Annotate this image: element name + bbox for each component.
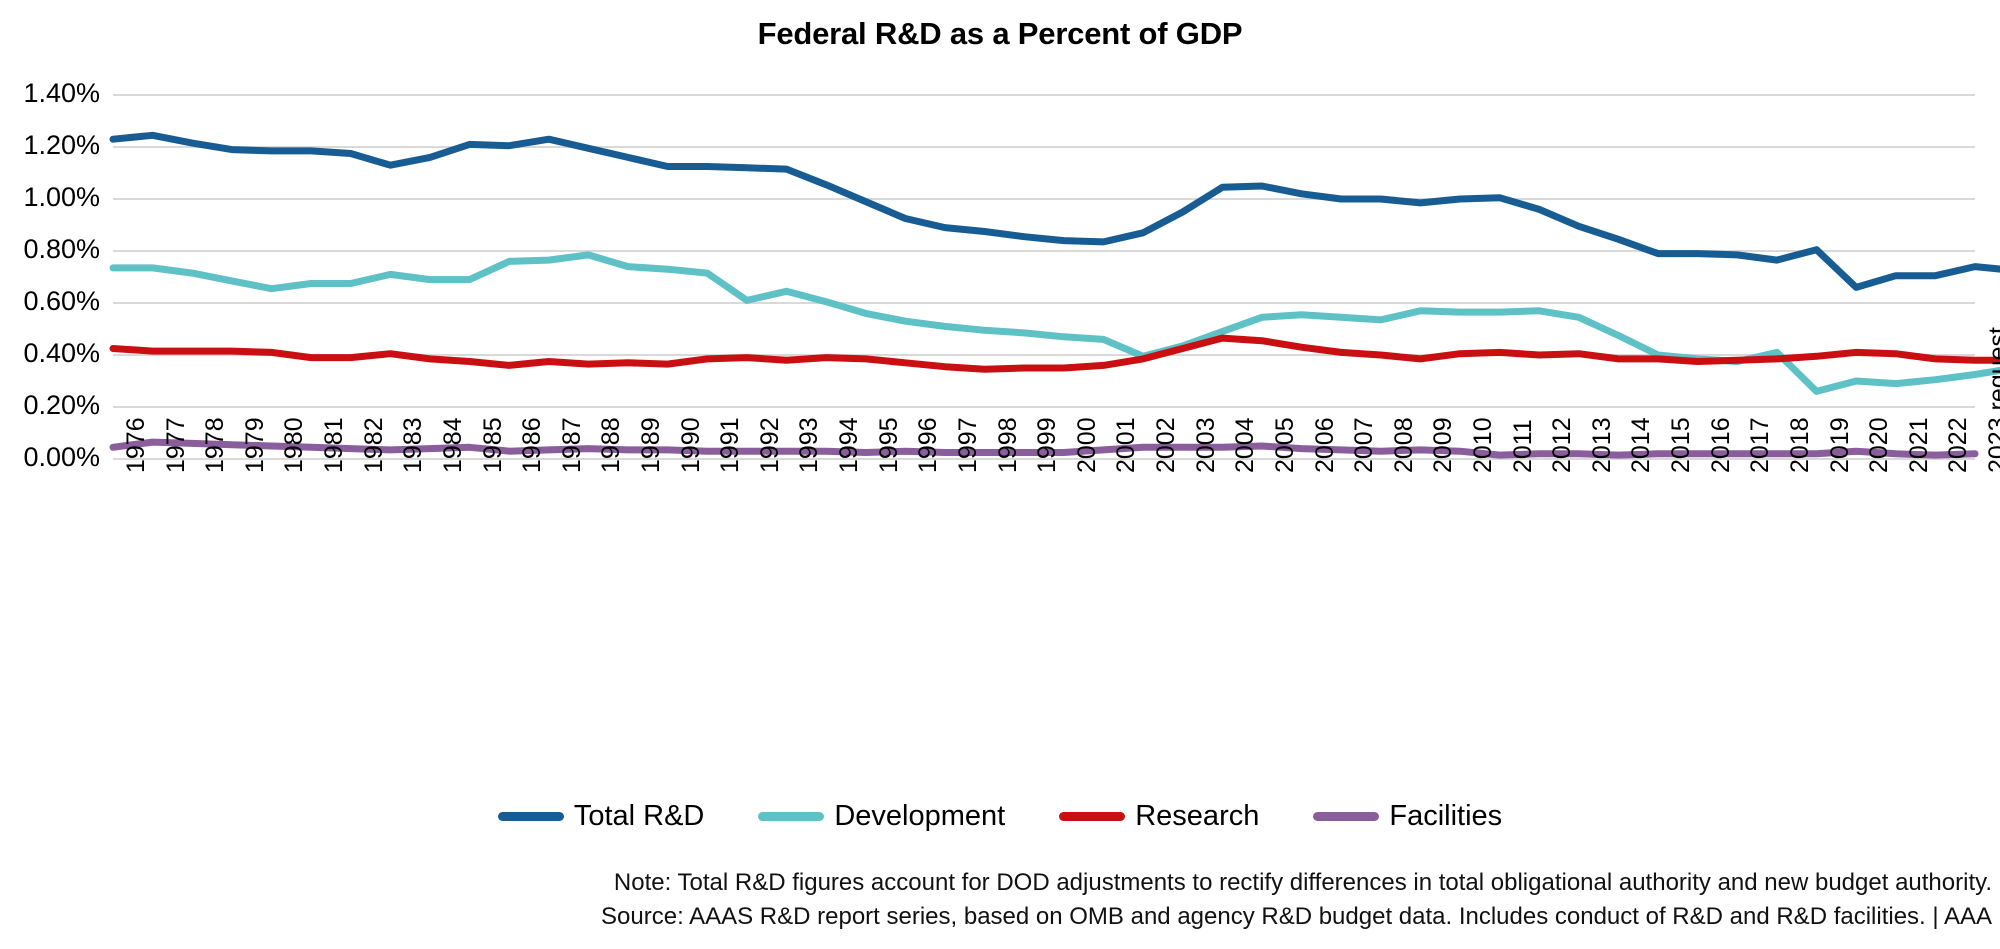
y-tick-label: 0.00%	[0, 442, 100, 473]
x-tick-label: 2006	[1311, 417, 1340, 473]
y-tick-label: 1.00%	[0, 182, 100, 213]
legend-swatch-icon	[758, 812, 824, 821]
series-line-total-r-d	[113, 135, 2000, 287]
legend-item-facilities[interactable]: Facilities	[1313, 800, 1502, 833]
x-tick-label: 2011	[1509, 419, 1538, 473]
x-tick-label: 2009	[1429, 417, 1458, 473]
legend-label: Total R&D	[574, 800, 705, 833]
x-tick-label: 1997	[954, 417, 983, 473]
x-tick-label: 1977	[162, 417, 191, 473]
chart-container: Federal R&D as a Percent of GDP 0.00%0.2…	[0, 0, 2000, 949]
legend-swatch-icon	[498, 812, 564, 821]
x-tick-label: 2012	[1548, 417, 1577, 473]
x-tick-label: 1998	[994, 417, 1023, 473]
x-tick-label: 1976	[122, 417, 151, 473]
x-tick-label: 1990	[677, 417, 706, 473]
x-tick-label: 1989	[637, 417, 666, 473]
footnote-note: Note: Total R&D figures account for DOD …	[0, 866, 1992, 900]
x-tick-label: 1994	[835, 417, 864, 473]
legend-label: Facilities	[1389, 800, 1502, 833]
legend-label: Development	[834, 800, 1005, 833]
x-tick-label: 1988	[597, 417, 626, 473]
x-tick-label: 2005	[1271, 417, 1300, 473]
legend-item-development[interactable]: Development	[758, 800, 1005, 833]
x-tick-label: 1992	[756, 417, 785, 473]
x-tick-label: 2019	[1826, 417, 1855, 473]
x-tick-label: 1993	[795, 417, 824, 473]
legend-swatch-icon	[1313, 812, 1379, 821]
x-tick-label: 2022	[1944, 417, 1973, 473]
x-tick-label: 2008	[1390, 417, 1419, 473]
x-tick-label: 1995	[875, 417, 904, 473]
legend-swatch-icon	[1059, 812, 1125, 821]
legend-item-total-r-d[interactable]: Total R&D	[498, 800, 705, 833]
x-tick-label: 2001	[1112, 417, 1141, 473]
x-tick-label: 2014	[1627, 417, 1656, 473]
footnotes-block: Note: Total R&D figures account for DOD …	[0, 866, 1996, 934]
x-tick-label: 2023 request	[1984, 327, 2000, 473]
chart-legend: Total R&DDevelopmentResearchFacilities	[0, 800, 2000, 833]
x-tick-label: 1982	[360, 417, 389, 473]
y-tick-label: 0.40%	[0, 338, 100, 369]
x-tick-label: 1991	[716, 417, 745, 473]
y-tick-label: 0.60%	[0, 286, 100, 317]
x-tick-label: 1996	[914, 417, 943, 473]
footnote-source: Source: AAAS R&D report series, based on…	[0, 900, 1992, 934]
x-tick-label: 2020	[1865, 417, 1894, 473]
x-tick-label: 2021	[1905, 417, 1934, 473]
x-tick-label: 1987	[558, 417, 587, 473]
x-tick-label: 1981	[320, 417, 349, 473]
series-line-research	[113, 338, 2000, 369]
y-tick-label: 0.80%	[0, 234, 100, 265]
x-tick-label: 2013	[1588, 417, 1617, 473]
x-tick-label: 2017	[1746, 417, 1775, 473]
x-tick-label: 1983	[399, 417, 428, 473]
x-tick-label: 1985	[479, 417, 508, 473]
x-tick-label: 1999	[1033, 417, 1062, 473]
x-tick-label: 2000	[1073, 417, 1102, 473]
legend-item-research[interactable]: Research	[1059, 800, 1259, 833]
x-tick-label: 1986	[518, 417, 547, 473]
y-tick-label: 1.40%	[0, 78, 100, 109]
x-tick-label: 1978	[201, 417, 230, 473]
x-tick-label: 2010	[1469, 417, 1498, 473]
y-tick-label: 0.20%	[0, 390, 100, 421]
x-tick-label: 2018	[1786, 417, 1815, 473]
x-tick-label: 2003	[1192, 417, 1221, 473]
x-tick-label: 2015	[1667, 417, 1696, 473]
x-tick-label: 2016	[1707, 417, 1736, 473]
x-tick-label: 2002	[1152, 417, 1181, 473]
y-tick-label: 1.20%	[0, 130, 100, 161]
x-tick-label: 1979	[241, 417, 270, 473]
x-tick-label: 2007	[1350, 417, 1379, 473]
legend-label: Research	[1135, 800, 1259, 833]
x-tick-label: 1980	[280, 417, 309, 473]
x-tick-label: 2004	[1231, 417, 1260, 473]
x-tick-label: 1984	[439, 417, 468, 473]
